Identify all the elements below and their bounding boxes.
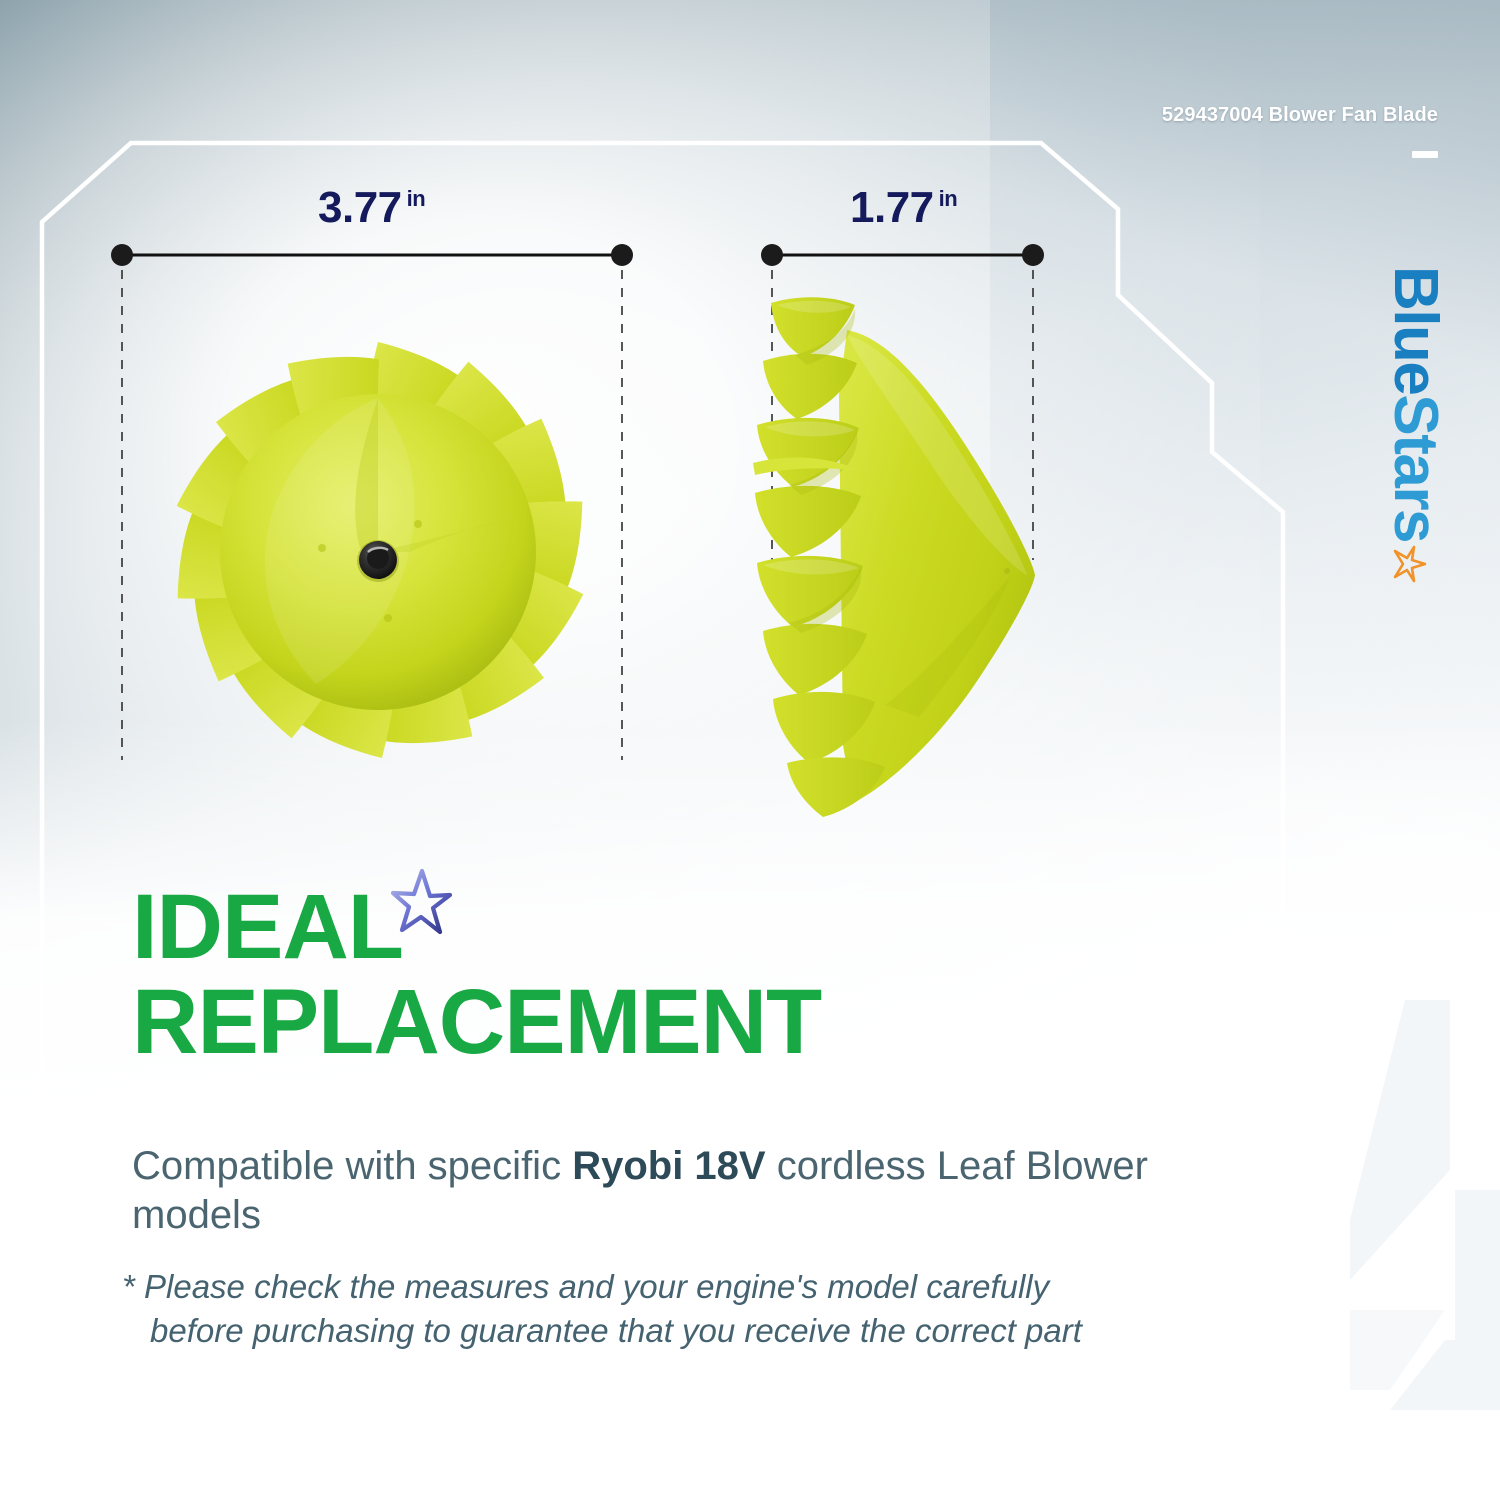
headline-text-1: IDEAL	[132, 876, 403, 978]
product-infographic: 529437004 Blower Fan Blade BlueStars 3.7…	[0, 0, 1500, 1500]
part-number-title: 529437004 Blower Fan Blade	[1162, 104, 1438, 127]
disclaimer-text: * Please check the measures and your eng…	[122, 1265, 1302, 1353]
dimension-unit-width: in	[407, 186, 426, 211]
compatibility-prefix: Compatible with specific	[132, 1144, 572, 1188]
disclaimer-line-1: * Please check the measures and your eng…	[122, 1268, 1049, 1305]
compatibility-highlight: Ryobi 18V	[572, 1144, 765, 1188]
blower-fan-blade-front-image	[110, 280, 650, 820]
dimension-unit-depth: in	[939, 186, 958, 211]
bluestars-logo: BlueStars	[1340, 210, 1490, 640]
headline-line-1: IDEAL	[132, 885, 1132, 970]
dimension-value-depth: 1.77	[850, 183, 934, 232]
dash-icon	[1412, 151, 1438, 158]
background-watermark-shape	[1200, 980, 1500, 1500]
bluestars-logo-text: BlueStars	[1384, 266, 1446, 584]
orange-star-icon	[1377, 544, 1439, 584]
purple-star-icon	[390, 863, 452, 933]
headline-block: IDEAL REPLACEMENT	[132, 885, 1132, 1064]
compatibility-text: Compatible with specific Ryobi 18V cordl…	[132, 1142, 1182, 1240]
brand-name-stars: Stars	[1384, 394, 1446, 542]
dimension-label-width: 3.77in	[318, 183, 425, 233]
disclaimer-line-2: before purchasing to guarantee that you …	[122, 1309, 1302, 1353]
headline-line-2: REPLACEMENT	[132, 980, 1132, 1065]
dimension-label-depth: 1.77in	[850, 183, 957, 233]
blower-fan-blade-side-image	[735, 275, 1065, 830]
dimension-value-width: 3.77	[318, 183, 402, 232]
brand-name-blue: Blue	[1384, 266, 1446, 394]
